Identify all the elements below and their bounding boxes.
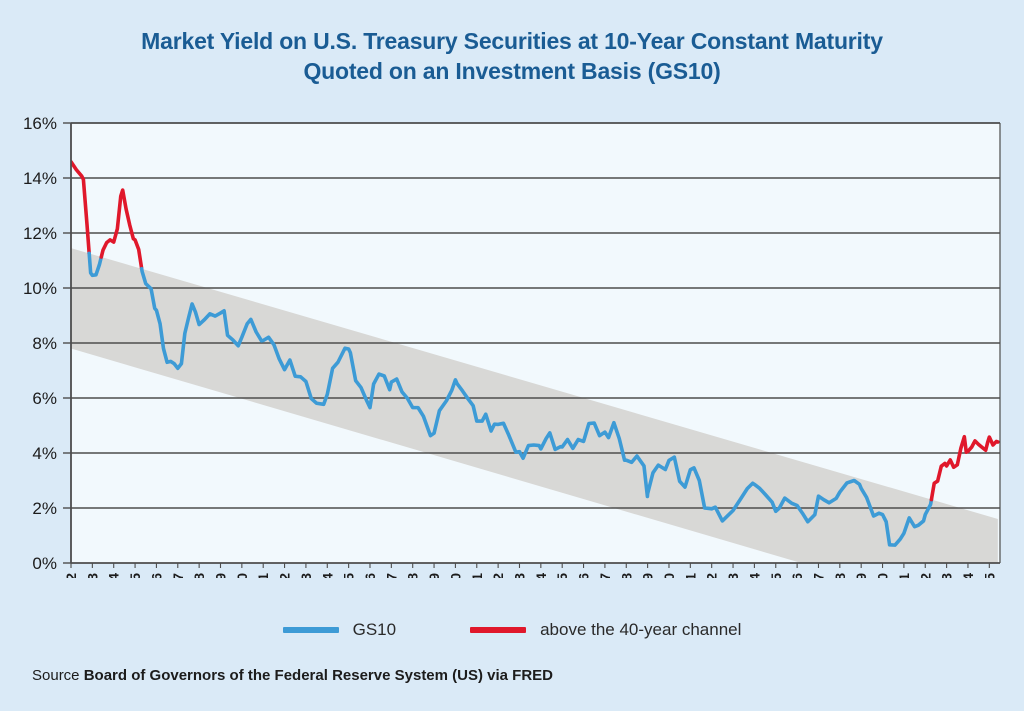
y-axis-ticks: 0%2%4%6%8%10%12%14%16% bbox=[23, 114, 71, 573]
x-tick-label: 1996 bbox=[362, 573, 378, 578]
x-tick-label: 1984 bbox=[106, 573, 122, 578]
x-tick-label: 2014 bbox=[746, 573, 762, 578]
y-tick-label: 6% bbox=[32, 389, 57, 408]
x-axis-ticks: 1982198319841985198619871988198919901991… bbox=[63, 563, 997, 578]
x-tick-label: 2022 bbox=[917, 573, 933, 578]
y-tick-label: 2% bbox=[32, 499, 57, 518]
x-tick-label: 2021 bbox=[896, 573, 912, 578]
x-tick-label: 2001 bbox=[469, 573, 485, 578]
x-tick-label: 1993 bbox=[298, 573, 314, 578]
y-tick-label: 0% bbox=[32, 554, 57, 573]
x-tick-label: 2010 bbox=[661, 573, 677, 578]
x-tick-label: 2025 bbox=[981, 573, 997, 578]
x-tick-label: 1991 bbox=[255, 573, 271, 578]
title-line-2: Quoted on an Investment Basis (GS10) bbox=[0, 56, 1024, 86]
x-tick-label: 1988 bbox=[191, 573, 207, 578]
x-tick-label: 2018 bbox=[832, 573, 848, 578]
x-tick-label: 1995 bbox=[341, 573, 357, 578]
x-tick-label: 1997 bbox=[383, 573, 399, 578]
y-tick-label: 14% bbox=[23, 169, 57, 188]
x-tick-label: 2000 bbox=[447, 573, 463, 578]
x-tick-label: 1986 bbox=[148, 573, 164, 578]
chart-area: 0%2%4%6%8%10%12%14%16% 19821983198419851… bbox=[0, 108, 1024, 578]
x-tick-label: 2005 bbox=[554, 573, 570, 578]
title-line-1: Market Yield on U.S. Treasury Securities… bbox=[141, 28, 883, 54]
legend-swatch-above-channel bbox=[470, 627, 526, 633]
y-tick-label: 4% bbox=[32, 444, 57, 463]
x-tick-label: 2009 bbox=[640, 573, 656, 578]
x-tick-label: 1987 bbox=[170, 573, 186, 578]
page-title: Market Yield on U.S. Treasury Securities… bbox=[0, 26, 1024, 86]
x-tick-label: 1999 bbox=[426, 573, 442, 578]
y-tick-label: 8% bbox=[32, 334, 57, 353]
yield-line-chart: 0%2%4%6%8%10%12%14%16% 19821983198419851… bbox=[0, 108, 1024, 578]
x-tick-label: 2024 bbox=[960, 573, 976, 578]
y-tick-label: 12% bbox=[23, 224, 57, 243]
x-tick-label: 1985 bbox=[127, 573, 143, 578]
legend-label-above-channel: above the 40-year channel bbox=[540, 620, 741, 640]
x-tick-label: 2023 bbox=[939, 573, 955, 578]
chart-legend: GS10 above the 40-year channel bbox=[0, 620, 1024, 640]
x-tick-label: 1990 bbox=[234, 573, 250, 578]
source-line: Source Board of Governors of the Federal… bbox=[32, 667, 553, 684]
legend-item-above-channel: above the 40-year channel bbox=[470, 620, 741, 640]
x-tick-label: 2003 bbox=[512, 573, 528, 578]
x-tick-label: 1982 bbox=[63, 573, 79, 578]
source-text: Board of Governors of the Federal Reserv… bbox=[84, 667, 553, 684]
x-tick-label: 1989 bbox=[213, 573, 229, 578]
y-tick-label: 10% bbox=[23, 279, 57, 298]
legend-item-gs10: GS10 bbox=[283, 620, 396, 640]
x-tick-label: 2012 bbox=[704, 573, 720, 578]
x-tick-label: 2007 bbox=[597, 573, 613, 578]
x-tick-label: 2019 bbox=[853, 573, 869, 578]
legend-label-gs10: GS10 bbox=[353, 620, 396, 640]
x-tick-label: 2020 bbox=[875, 573, 891, 578]
source-prefix: Source bbox=[32, 667, 80, 684]
x-tick-label: 1994 bbox=[319, 573, 335, 578]
x-tick-label: 2011 bbox=[682, 573, 698, 578]
x-tick-label: 1992 bbox=[277, 573, 293, 578]
x-tick-label: 1998 bbox=[405, 573, 421, 578]
x-tick-label: 2004 bbox=[533, 573, 549, 578]
x-tick-label: 2017 bbox=[811, 573, 827, 578]
x-tick-label: 2015 bbox=[768, 573, 784, 578]
x-tick-label: 2008 bbox=[618, 573, 634, 578]
chart-page: Market Yield on U.S. Treasury Securities… bbox=[0, 0, 1024, 711]
y-tick-label: 16% bbox=[23, 114, 57, 133]
x-tick-label: 1983 bbox=[84, 573, 100, 578]
x-tick-label: 2006 bbox=[576, 573, 592, 578]
x-tick-label: 2013 bbox=[725, 573, 741, 578]
legend-swatch-gs10 bbox=[283, 627, 339, 633]
x-tick-label: 2016 bbox=[789, 573, 805, 578]
x-tick-label: 2002 bbox=[490, 573, 506, 578]
